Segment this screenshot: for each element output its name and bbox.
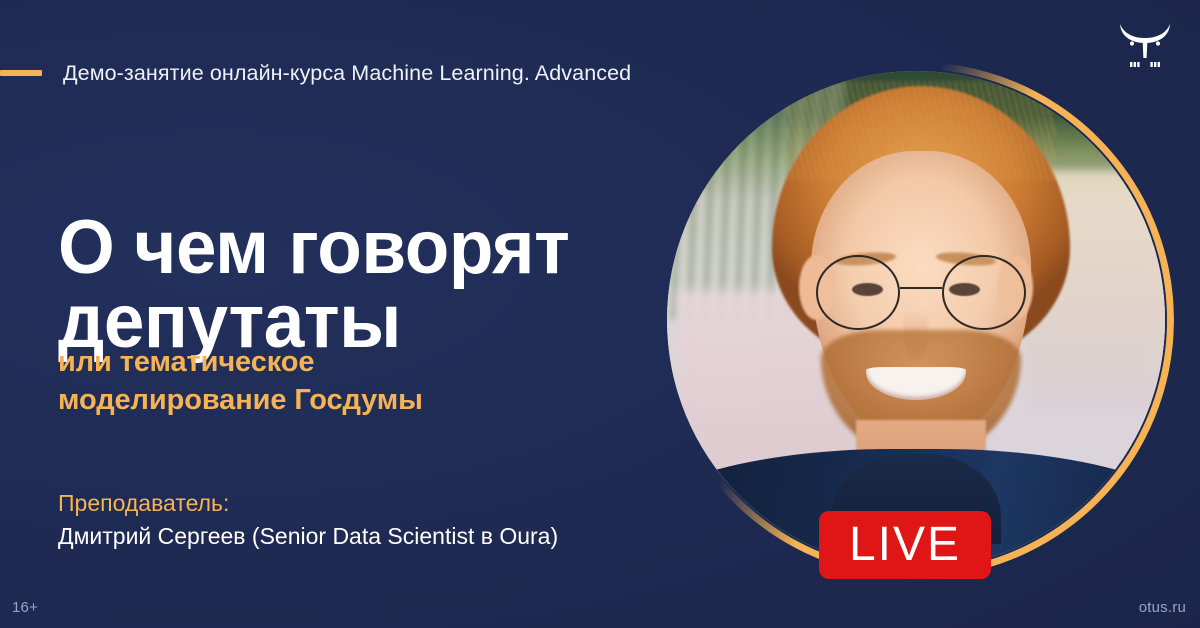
- webinar-promo-banner: Демо-занятие онлайн-курса Machine Learni…: [0, 0, 1200, 628]
- status-badge-live: LIVE: [819, 511, 991, 579]
- live-badge-label: LIVE: [849, 521, 961, 569]
- subtitle-line-1: или тематическое: [58, 344, 618, 382]
- subtitle-line-2: моделирование Госдумы: [58, 382, 618, 420]
- glasses-lens-right: [942, 255, 1026, 330]
- portrait-glasses-icon: [816, 255, 1025, 330]
- presenter-name: Дмитрий Сергеев (Senior Data Scientist в…: [58, 520, 678, 553]
- subtitle: или тематическое моделирование Госдумы: [58, 344, 618, 419]
- site-url-label: otus.ru: [1139, 599, 1186, 616]
- presenter-block: Преподаватель: Дмитрий Сергеев (Senior D…: [58, 487, 678, 552]
- kicker: Демо-занятие онлайн-курса Machine Learni…: [0, 58, 631, 88]
- accent-bar: [0, 70, 42, 76]
- portrait-photo: [667, 71, 1165, 569]
- page-title: О чем говорят депутаты: [58, 211, 653, 358]
- glasses-bridge: [900, 287, 942, 290]
- glasses-lens-left: [816, 255, 900, 330]
- kicker-text: Демо-занятие онлайн-курса Machine Learni…: [63, 61, 631, 86]
- age-rating-label: 16+: [12, 599, 38, 616]
- presenter-label: Преподаватель:: [58, 487, 678, 520]
- presenter-portrait: [658, 62, 1174, 578]
- headline-line-1: О чем говорят: [58, 211, 653, 285]
